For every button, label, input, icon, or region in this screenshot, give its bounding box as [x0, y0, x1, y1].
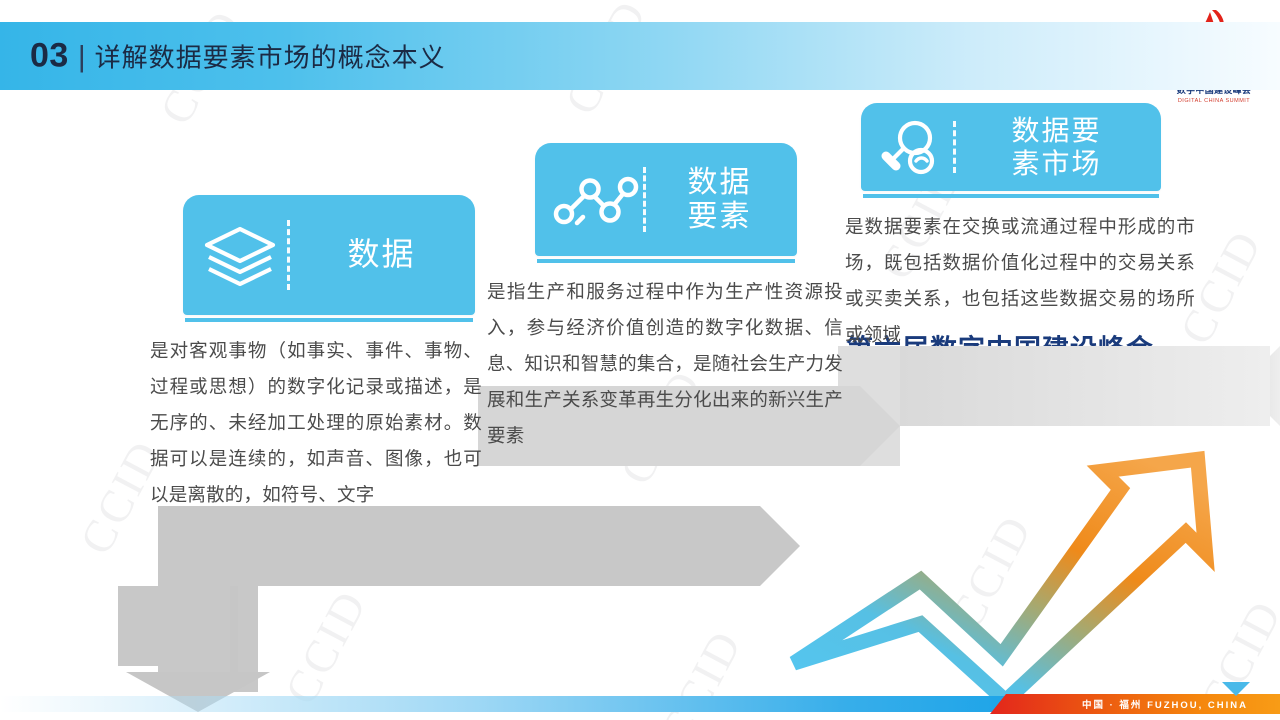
card-body-data: 是对客观事物（如事实、事件、事物、过程或思想）的数字化记录或描述，是无序的、未经…: [150, 333, 482, 513]
node-graph-icon: [547, 165, 639, 235]
card-label-data: 数据: [294, 237, 469, 273]
slide-footer: 中国 · 福州 FUZHOU, CHINA: [0, 680, 1280, 720]
magnifier-icon: [875, 116, 949, 178]
concept-card-market: 数据要 素市场 是数据要素在交换或流通过程中形成的市场，既包括数据价值化过程中的…: [845, 103, 1195, 353]
card-label-element: 数据 要素: [650, 166, 789, 233]
footer-triangle-marker: [1222, 682, 1250, 696]
title-separator: |: [78, 41, 86, 75]
concept-card-element: 数据 要素 是指生产和服务过程中作为生产性资源投入，参与经济价值创造的数字化数据…: [487, 143, 843, 454]
footer-blue-bar: [0, 696, 1030, 712]
layers-icon: [197, 219, 283, 291]
section-number: 03: [30, 37, 69, 76]
card-header-element: 数据 要素: [535, 143, 797, 256]
concept-card-data: 数据 是对客观事物（如事实、事件、事物、过程或思想）的数字化记录或描述，是无序的…: [150, 195, 482, 513]
card-body-element: 是指生产和服务过程中作为生产性资源投入，参与经济价值创造的数字化数据、信息、知识…: [487, 274, 843, 454]
card-divider: [953, 121, 956, 172]
card-body-market: 是数据要素在交换或流通过程中形成的市场，既包括数据价值化过程中的交易关系或买卖关…: [845, 209, 1195, 353]
card-header-data: 数据: [183, 195, 475, 315]
card-header-market: 数据要 素市场: [861, 103, 1161, 191]
footer-location-text: 中国 · 福州 FUZHOU, CHINA: [1022, 697, 1248, 711]
card-label-market: 数据要 素市场: [960, 114, 1153, 180]
card-divider: [643, 167, 646, 233]
slide-header: 03 | 详解数据要素市场的概念本义: [0, 22, 1280, 90]
slide-canvas: CCID CCID CCID CCID CCID CCID CCID CCID …: [0, 0, 1280, 720]
section-title: 详解数据要素市场的概念本义: [95, 38, 446, 75]
card-divider: [287, 220, 290, 290]
footer-orange-bar: 中国 · 福州 FUZHOU, CHINA: [990, 694, 1280, 714]
page-title: 03 | 详解数据要素市场的概念本义: [30, 37, 446, 76]
